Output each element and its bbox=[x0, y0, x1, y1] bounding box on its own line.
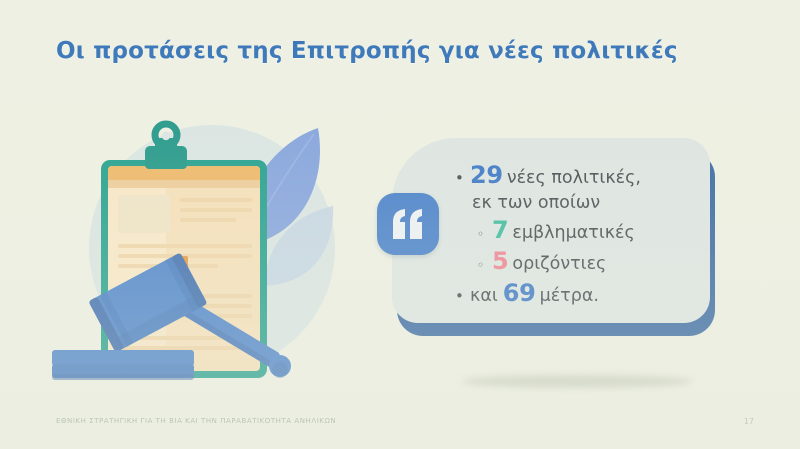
list-item: ◦ 5 οριζόντιες bbox=[455, 246, 705, 278]
clipboard-gavel-illustration bbox=[52, 98, 392, 398]
list-item: • 29 νέες πολιτικές, bbox=[455, 160, 705, 192]
bullet-marker-hollow: ◦ bbox=[477, 258, 492, 274]
list-item-continuation: εκ των οποίων bbox=[455, 192, 705, 215]
bubble-drop-shadow bbox=[462, 375, 692, 388]
bullet-marker-filled: • bbox=[455, 169, 470, 189]
bullet-number: 5 bbox=[492, 246, 512, 278]
bullet-number: 29 bbox=[470, 160, 507, 192]
page-title: Οι προτάσεις της Επιτροπής για νέες πολι… bbox=[56, 38, 678, 64]
bullet-marker-filled: • bbox=[455, 287, 470, 307]
bullet-list: • 29 νέες πολιτικές, εκ των οποίων ◦ 7 ε… bbox=[455, 160, 705, 310]
bullet-text: μέτρα. bbox=[540, 285, 599, 308]
list-item: ◦ 7 εμβληματικές bbox=[455, 215, 705, 247]
presentation-slide: Οι προτάσεις της Επιτροπής για νέες πολι… bbox=[0, 0, 800, 449]
footer-strategy-label: ΕΘΝΙΚΗ ΣΤΡΑΤΗΓΙΚΗ ΓΙΑ ΤΗ ΒΙΑ ΚΑΙ ΤΗΝ ΠΑΡ… bbox=[56, 417, 336, 425]
bullet-number: 69 bbox=[498, 278, 540, 310]
bullet-text: εμβληματικές bbox=[512, 222, 634, 245]
bullet-marker-hollow: ◦ bbox=[477, 227, 492, 243]
bullet-continuation-text: εκ των οποίων bbox=[472, 192, 600, 215]
list-item: • και 69 μέτρα. bbox=[455, 278, 705, 310]
page-number: 17 bbox=[744, 417, 754, 426]
bullet-text: νέες πολιτικές, bbox=[507, 167, 641, 190]
bullet-text: οριζόντιες bbox=[512, 253, 606, 276]
quote-mark-icon bbox=[377, 193, 439, 255]
bullet-number: 7 bbox=[492, 215, 512, 247]
bullet-prefix-text: και bbox=[470, 285, 498, 308]
